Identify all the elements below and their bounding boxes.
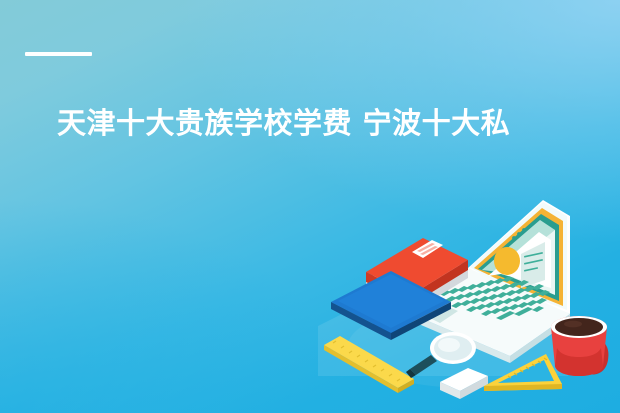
education-illustration [318,176,620,413]
coffee-mug [551,316,608,376]
banner-card: 天津十大贵族学校学费 宁波十大私 [0,0,620,413]
page-title: 天津十大贵族学校学费 宁波十大私 [57,103,617,143]
accent-rule [25,52,92,56]
